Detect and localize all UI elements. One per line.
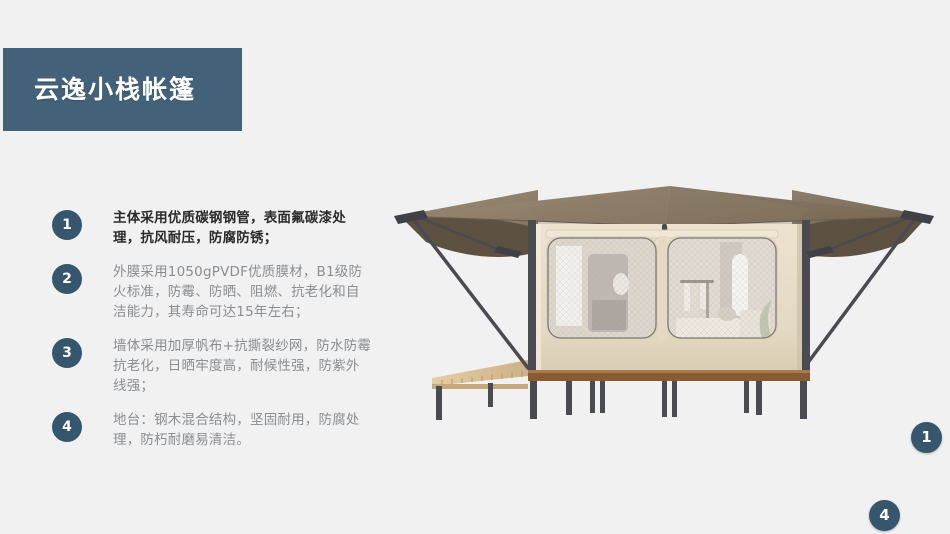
tent-render-svg [380,150,950,450]
main-deck-top [528,370,810,373]
corner-post-right [802,220,810,376]
feature-list: 1 主体采用优质碳钢钢管，表面氟碳漆处理，抗风耐压，防腐防锈； 2 外膜采用10… [52,208,372,464]
leg-1 [436,386,442,420]
window-right [666,236,778,340]
feature-text-1: 主体采用优质碳钢钢管，表面氟碳漆处理，抗风耐压，防腐防锈； [113,208,372,248]
feature-item-3: 3 墙体采用加厚帆布+抗撕裂纱网，防水防霉抗老化，日晒牢度高，耐候性强，防紫外线… [52,336,372,396]
leg-2 [488,383,493,407]
leg-5 [590,381,595,413]
feature-number-badge-2: 2 [52,264,82,294]
leg-9 [744,381,749,413]
leg-7 [662,381,667,417]
feature-number-badge-1: 1 [52,210,82,240]
callout-marker-4[interactable]: 4 [869,500,900,531]
support-legs [436,381,807,420]
window-right-interior [668,238,776,340]
leg-3 [530,381,537,419]
feature-item-2: 2 外膜采用1050gPVDF优质膜材，B1级防火标准，防霉、防晒、阻燃、抗老化… [52,262,372,322]
side-deck-surface [432,360,528,386]
feature-item-1: 1 主体采用优质碳钢钢管，表面氟碳漆处理，抗风耐压，防腐防锈； [52,208,372,248]
leg-10 [756,381,762,415]
main-deck-edge [528,372,810,381]
feature-item-4: 4 地台：钢木混合结构，坚固耐用，防腐处理，防朽耐磨易清洁。 [52,410,372,450]
callout-marker-1[interactable]: 1 [911,422,942,453]
title-banner: 云逸小栈帐篷 [3,48,242,131]
tent-illustration: 1 2 3 4 [380,150,950,450]
page-title: 云逸小栈帐篷 [3,77,196,102]
leg-11 [800,381,807,419]
window-left-interior [548,238,656,338]
wall-seam-right [797,224,802,372]
feature-number-badge-3: 3 [52,338,82,368]
leg-4 [566,381,572,415]
infographic-page: 云逸小栈帐篷 1 主体采用优质碳钢钢管，表面氟碳漆处理，抗风耐压，防腐防锈； 2… [0,0,950,534]
window-left [546,236,658,340]
window-right-mesh [668,238,776,338]
feature-number-badge-4: 4 [52,412,82,442]
leg-6 [600,381,605,413]
feature-text-2: 外膜采用1050gPVDF优质膜材，B1级防火标准，防霉、防晒、阻燃、抗老化和自… [113,262,372,322]
corner-post-left [528,220,536,376]
side-deck-edge [432,384,528,389]
window-left-mesh [548,238,656,338]
feature-text-3: 墙体采用加厚帆布+抗撕裂纱网，防水防霉抗老化，日晒牢度高，耐候性强，防紫外线强； [113,336,372,396]
leg-8 [672,381,677,417]
wall-seam-left [536,224,541,372]
window-mullion [658,236,667,340]
feature-text-4: 地台：钢木混合结构，坚固耐用，防腐处理，防朽耐磨易清洁。 [113,410,372,450]
